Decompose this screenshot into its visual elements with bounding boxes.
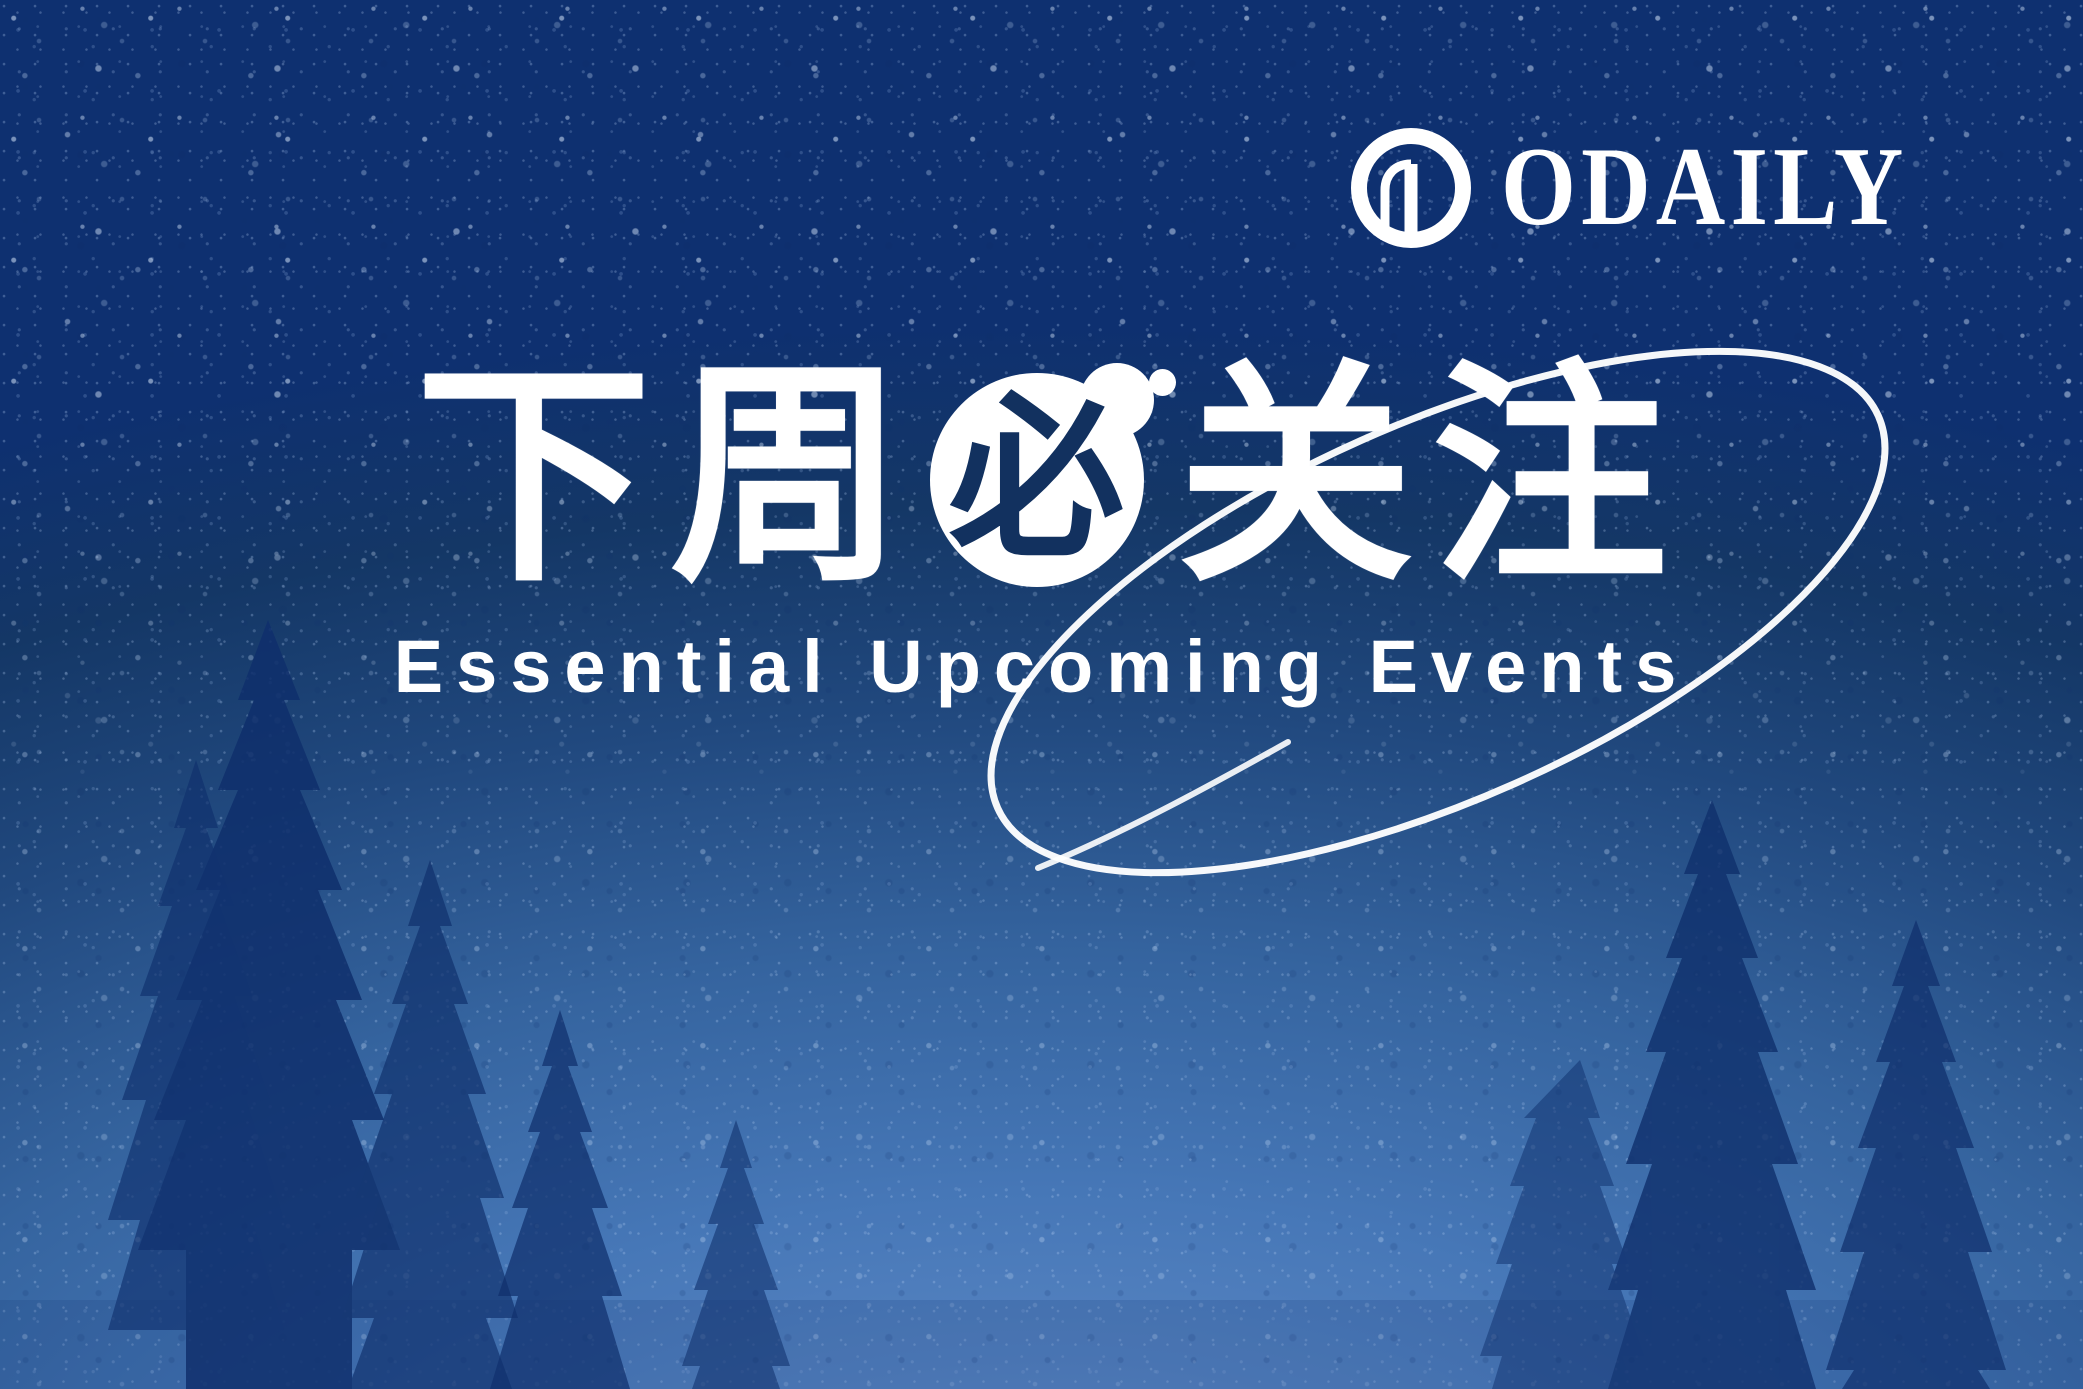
title-char-guan: 关 <box>1178 359 1414 595</box>
title-char-xia: 下 <box>415 359 651 595</box>
odaily-circle-p-mark <box>1351 128 1471 248</box>
title-char-bi-badge: 必 <box>924 359 1160 595</box>
odaily-logo[interactable]: ODAILY <box>1351 128 1975 248</box>
english-subtitle: Essential Upcoming Events <box>0 624 2083 709</box>
odaily-wordmark: ODAILY <box>1501 142 1908 234</box>
chinese-title: 下 周 必 关 注 <box>0 352 2083 602</box>
poster-canvas: ODAILY 下 周 必 关 注 Essential Upcoming Even… <box>0 0 2083 1389</box>
title-block: 下 周 必 关 注 Essential Upcoming Events <box>0 352 2083 709</box>
badge-pip <box>1149 369 1176 396</box>
title-char-zhu: 注 <box>1432 359 1668 595</box>
title-char-bi: 必 <box>930 373 1144 587</box>
title-char-zhou: 周 <box>669 359 905 595</box>
